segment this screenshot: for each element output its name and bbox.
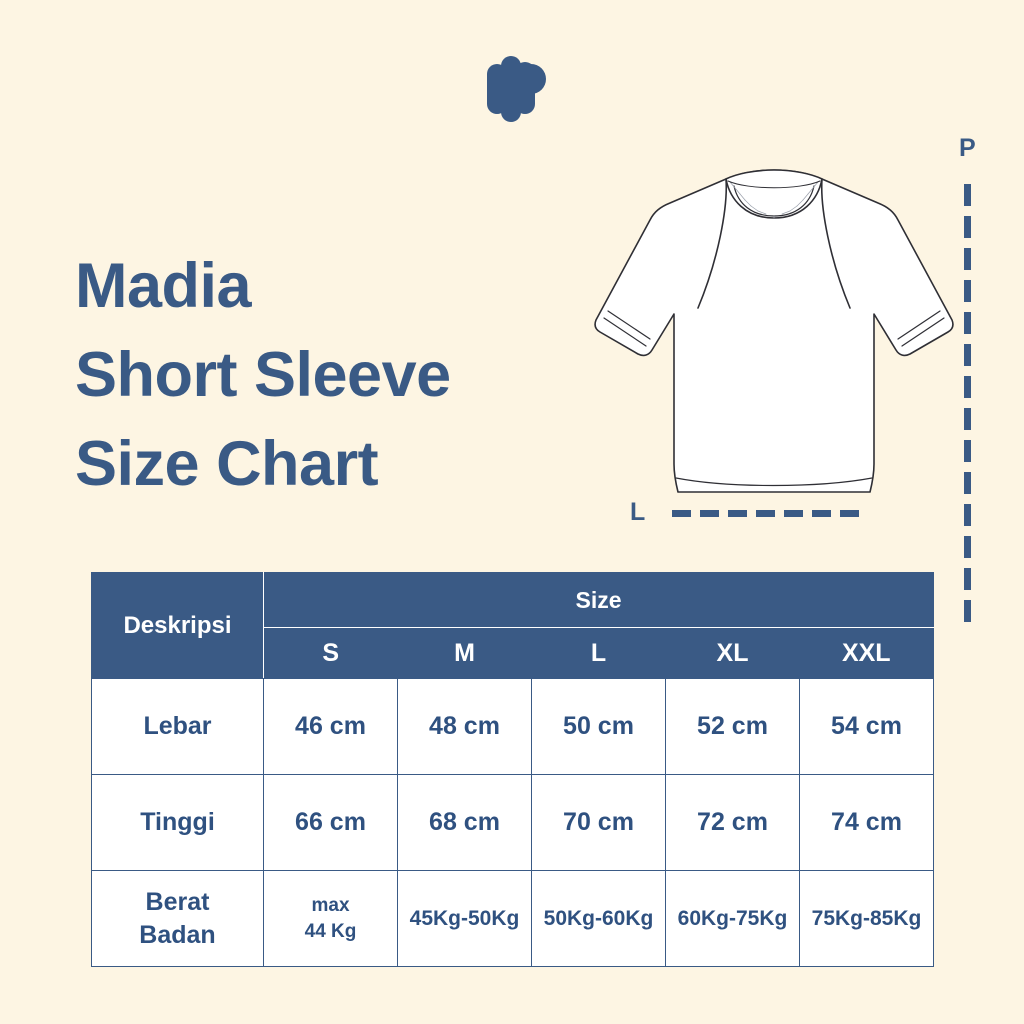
cell-lebar-xl: 52 cm xyxy=(666,679,800,775)
cell-lebar-s: 46 cm xyxy=(264,679,398,775)
cell-berat-s-line-1: max xyxy=(264,893,397,919)
cell-berat-xl: 60Kg-75Kg xyxy=(666,871,800,967)
tshirt-short-sleeve-front-icon xyxy=(578,148,968,538)
row-label-berat-line-2: Badan xyxy=(92,919,263,952)
brand-logo xyxy=(0,52,1024,126)
header-size-s: S xyxy=(264,628,398,679)
row-label-tinggi: Tinggi xyxy=(92,775,264,871)
table-header-row-group: Deskripsi Size xyxy=(92,573,934,628)
cell-berat-m: 45Kg-50Kg xyxy=(398,871,532,967)
header-size-xxl: XXL xyxy=(800,628,934,679)
table-header: Deskripsi Size S M L XL XXL xyxy=(92,573,934,679)
cell-tinggi-s: 66 cm xyxy=(264,775,398,871)
measure-label-l: L xyxy=(630,500,645,525)
table-row: Tinggi 66 cm 68 cm 70 cm 72 cm 74 cm xyxy=(92,775,934,871)
dashed-line-vertical xyxy=(964,184,971,632)
cell-lebar-xxl: 54 cm xyxy=(800,679,934,775)
cell-lebar-m: 48 cm xyxy=(398,679,532,775)
row-label-berat-line-1: Berat xyxy=(92,886,263,919)
cell-lebar-l: 50 cm xyxy=(532,679,666,775)
madia-leaf-logo-icon xyxy=(477,52,547,126)
cell-tinggi-xl: 72 cm xyxy=(666,775,800,871)
page-title-line-1: Madia xyxy=(75,242,615,331)
cell-berat-l: 50Kg-60Kg xyxy=(532,871,666,967)
header-deskripsi: Deskripsi xyxy=(92,573,264,679)
header-size-m: M xyxy=(398,628,532,679)
table-body: Lebar 46 cm 48 cm 50 cm 52 cm 54 cm Ting… xyxy=(92,679,934,967)
header-size-xl: XL xyxy=(666,628,800,679)
measure-marker-height: P xyxy=(955,136,995,506)
row-label-berat-badan: Berat Badan xyxy=(92,871,264,967)
cell-berat-s-line-2: 44 Kg xyxy=(264,919,397,945)
page-title-line-3: Size Chart xyxy=(75,420,615,509)
dashed-line-horizontal xyxy=(672,510,864,517)
measure-label-p: P xyxy=(959,136,976,161)
header-size-group: Size xyxy=(264,573,934,628)
table-row: Berat Badan max 44 Kg 45Kg-50Kg 50Kg-60K… xyxy=(92,871,934,967)
size-chart-table: Deskripsi Size S M L XL XXL Lebar 46 cm … xyxy=(91,572,934,967)
header-size-l: L xyxy=(532,628,666,679)
cell-berat-xxl: 75Kg-85Kg xyxy=(800,871,934,967)
page-title: Madia Short Sleeve Size Chart xyxy=(75,242,615,509)
cell-tinggi-l: 70 cm xyxy=(532,775,666,871)
tshirt-illustration xyxy=(578,148,968,538)
measure-marker-width: L xyxy=(630,500,880,530)
page-title-line-2: Short Sleeve xyxy=(75,331,615,420)
cell-berat-s: max 44 Kg xyxy=(264,871,398,967)
table-row: Lebar 46 cm 48 cm 50 cm 52 cm 54 cm xyxy=(92,679,934,775)
cell-tinggi-xxl: 74 cm xyxy=(800,775,934,871)
cell-tinggi-m: 68 cm xyxy=(398,775,532,871)
row-label-lebar: Lebar xyxy=(92,679,264,775)
